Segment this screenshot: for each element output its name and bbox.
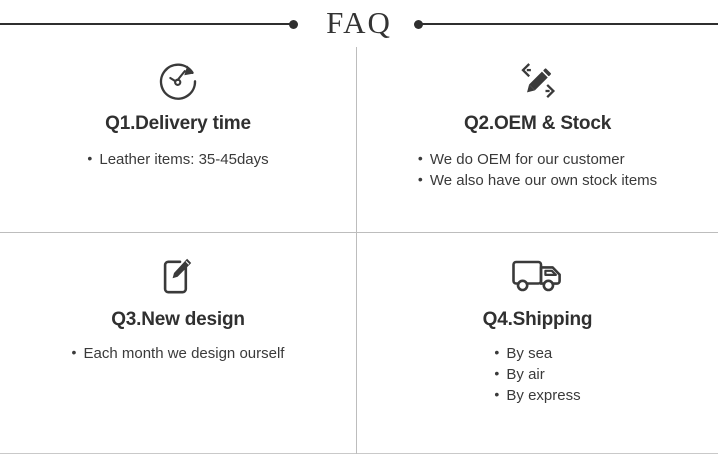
faq-answer-list-q4: By sea By air By express (494, 343, 580, 406)
note-edit-icon (156, 253, 200, 301)
list-item: We also have our own stock items (418, 170, 657, 191)
faq-question-q3: Q3.New design (111, 309, 245, 331)
delivery-truck-icon (508, 253, 568, 301)
faq-item-q4: Q4.Shipping By sea By air By express (357, 233, 718, 454)
faq-header: FAQ (0, 0, 718, 47)
faq-question-q2: Q2.OEM & Stock (464, 113, 611, 135)
list-item: Each month we design ourself (72, 343, 285, 364)
faq-answer-list-q2: We do OEM for our customer We also have … (418, 149, 657, 191)
list-item: By express (494, 385, 580, 406)
faq-answer-list-q3: Each month we design ourself (72, 343, 285, 364)
faq-question-q1: Q1.Delivery time (105, 113, 251, 135)
list-item: By sea (494, 343, 580, 364)
faq-item-q2: Q2.OEM & Stock We do OEM for our custome… (357, 47, 718, 233)
faq-item-q1: Q1.Delivery time Leather items: 35-45day… (0, 47, 357, 233)
list-item: By air (494, 364, 580, 385)
pencil-design-icon (513, 57, 563, 105)
faq-item-q3: Q3.New design Each month we design ourse… (0, 233, 357, 454)
faq-answer-list-q1: Leather items: 35-45days (87, 149, 268, 170)
faq-question-q4: Q4.Shipping (483, 309, 593, 331)
header-rule-right (420, 23, 718, 25)
clock-arrow-icon (154, 57, 202, 105)
list-item: Leather items: 35-45days (87, 149, 268, 170)
faq-page: FAQ Q1.Delivery time Leather items: 35-4… (0, 0, 718, 462)
list-item: We do OEM for our customer (418, 149, 657, 170)
faq-grid: Q1.Delivery time Leather items: 35-45day… (0, 47, 718, 454)
